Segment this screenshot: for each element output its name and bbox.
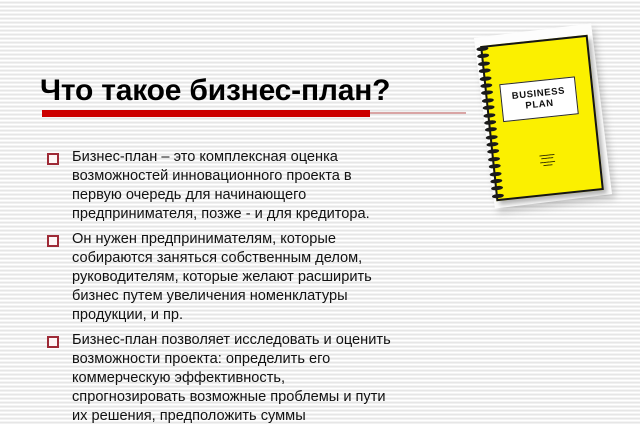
list-item-text: Бизнес-план – это комплексная оценка воз… xyxy=(72,148,464,224)
square-bullet-icon xyxy=(47,235,59,247)
square-bullet-icon xyxy=(47,336,59,348)
title-underline-accent xyxy=(42,110,370,117)
notebook-cover-microtext: ▬▬▬▬▬ ▬▬▬▬ ▬▬▬▬▬ ▬▬▬ xyxy=(526,152,569,170)
presentation-slide: Что такое бизнес-план? Бизнес-план – это… xyxy=(0,0,640,424)
list-item: Бизнес-план – это комплексная оценка воз… xyxy=(44,148,464,224)
business-plan-notebook-image: BUSINESS PLAN ▬▬▬▬▬ ▬▬▬▬ ▬▬▬▬▬ ▬▬▬ xyxy=(468,22,628,222)
page-title: Что такое бизнес-план? xyxy=(40,75,480,107)
title-underline-faded xyxy=(370,112,466,114)
notebook-label-line-2: PLAN xyxy=(525,98,554,112)
spiral-binding-icon xyxy=(476,44,504,200)
bullet-list: Бизнес-план – это комплексная оценка воз… xyxy=(44,148,464,424)
list-item: Бизнес-план позволяет исследовать и оцен… xyxy=(44,331,464,424)
notebook-cover-label: BUSINESS PLAN xyxy=(499,76,579,122)
square-bullet-icon xyxy=(47,153,59,165)
list-item: Он нужен предпринимателям, которые собир… xyxy=(44,230,464,325)
notebook-cover: BUSINESS PLAN ▬▬▬▬▬ ▬▬▬▬ ▬▬▬▬▬ ▬▬▬ xyxy=(480,35,604,201)
list-item-text: Он нужен предпринимателям, которые собир… xyxy=(72,230,464,325)
list-item-text: Бизнес-план позволяет исследовать и оцен… xyxy=(72,331,464,424)
